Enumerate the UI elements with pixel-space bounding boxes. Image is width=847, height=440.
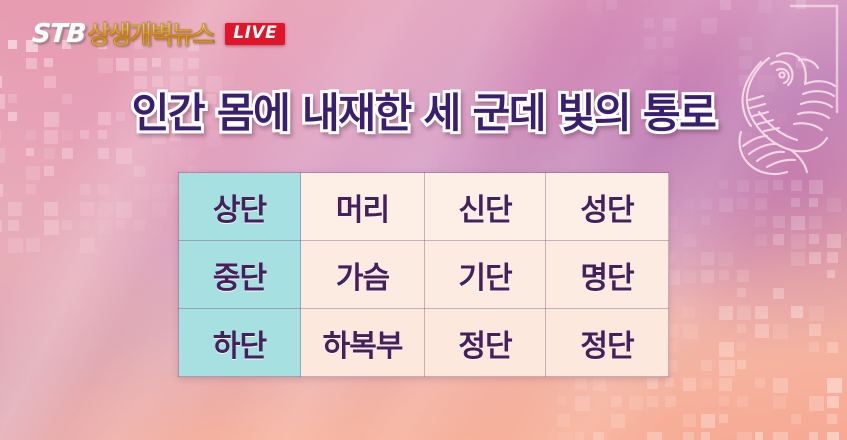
broadcast-logo-bar: STB 상생개벽뉴스 LIVE <box>32 21 285 47</box>
table-cell-dan-name-2: 성단 <box>546 173 669 241</box>
table-cell-dan-name-1: 정단 <box>425 309 546 377</box>
table-cell-body-part: 머리 <box>301 173 425 241</box>
table-cell-body-part: 하복부 <box>301 309 425 377</box>
live-badge: LIVE <box>225 23 285 45</box>
row-header-label: 하단 <box>179 309 301 377</box>
table-row: 상단 머리 신단 성단 <box>179 173 669 241</box>
table-row: 하단 하복부 정단 정단 <box>179 309 669 377</box>
channel-logo-stb: STB <box>31 21 86 47</box>
table-cell-dan-name-2: 명단 <box>546 241 669 309</box>
table-row: 중단 가슴 기단 명단 <box>179 241 669 309</box>
table-body: 상단 머리 신단 성단 중단 가슴 기단 명단 하단 하복부 정단 정단 <box>179 173 669 377</box>
table-cell-dan-name-1: 기단 <box>425 241 546 309</box>
table-cell-body-part: 가슴 <box>301 241 425 309</box>
table-cell-dan-name-1: 신단 <box>425 173 546 241</box>
broadcast-screen: STB 상생개벽뉴스 LIVE 인간 몸에 내재한 세 군데 빛의 통로 상단 … <box>0 0 847 440</box>
program-name-logo: 상생개벽뉴스 <box>87 22 213 47</box>
chakra-table: 상단 머리 신단 성단 중단 가슴 기단 명단 하단 하복부 정단 정단 <box>178 172 669 377</box>
table-cell-dan-name-2: 정단 <box>546 309 669 377</box>
row-header-label: 중단 <box>179 241 301 309</box>
page-title: 인간 몸에 내재한 세 군데 빛의 통로 <box>126 93 722 134</box>
row-header-label: 상단 <box>179 173 301 241</box>
headline-container: 인간 몸에 내재한 세 군데 빛의 통로 <box>0 93 847 134</box>
